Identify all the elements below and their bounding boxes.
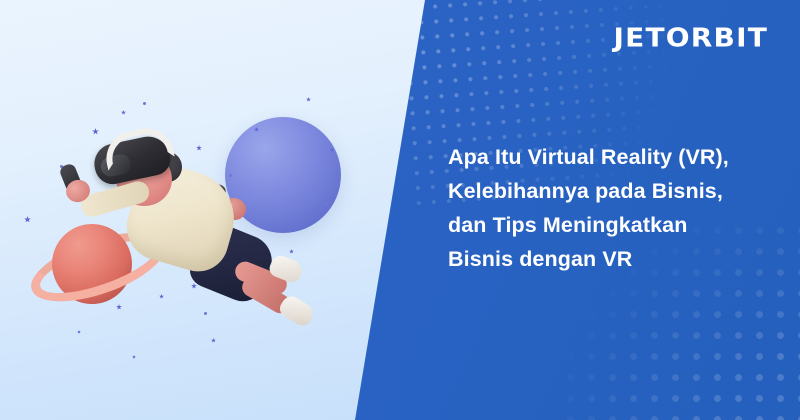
star-icon xyxy=(306,97,311,102)
vr-illustration xyxy=(0,0,360,420)
jetorbit-logo[interactable]: JETORBIT xyxy=(614,25,768,51)
star-icon xyxy=(24,216,31,223)
page-title: Apa Itu Virtual Reality (VR),Kelebihanny… xyxy=(448,140,768,276)
dot-star-icon xyxy=(325,203,328,206)
star-icon xyxy=(121,110,126,115)
star-icon xyxy=(289,249,294,254)
article-banner: JETORBIT Apa Itu Virtual Reality (VR),Ke… xyxy=(0,0,800,420)
star-icon xyxy=(77,330,81,334)
page-title-line-2: Kelebihannya pada Bisnis, xyxy=(448,174,768,208)
page-title-line-1: Apa Itu Virtual Reality (VR), xyxy=(448,140,768,174)
dot-star-icon xyxy=(143,102,146,105)
star-icon xyxy=(211,338,216,343)
page-title-line-4: Bisnis dengan VR xyxy=(448,242,768,276)
vr-character xyxy=(58,118,288,328)
page-title-line-3: dan Tips Meningkatkan xyxy=(448,208,768,242)
star-icon xyxy=(132,355,136,359)
